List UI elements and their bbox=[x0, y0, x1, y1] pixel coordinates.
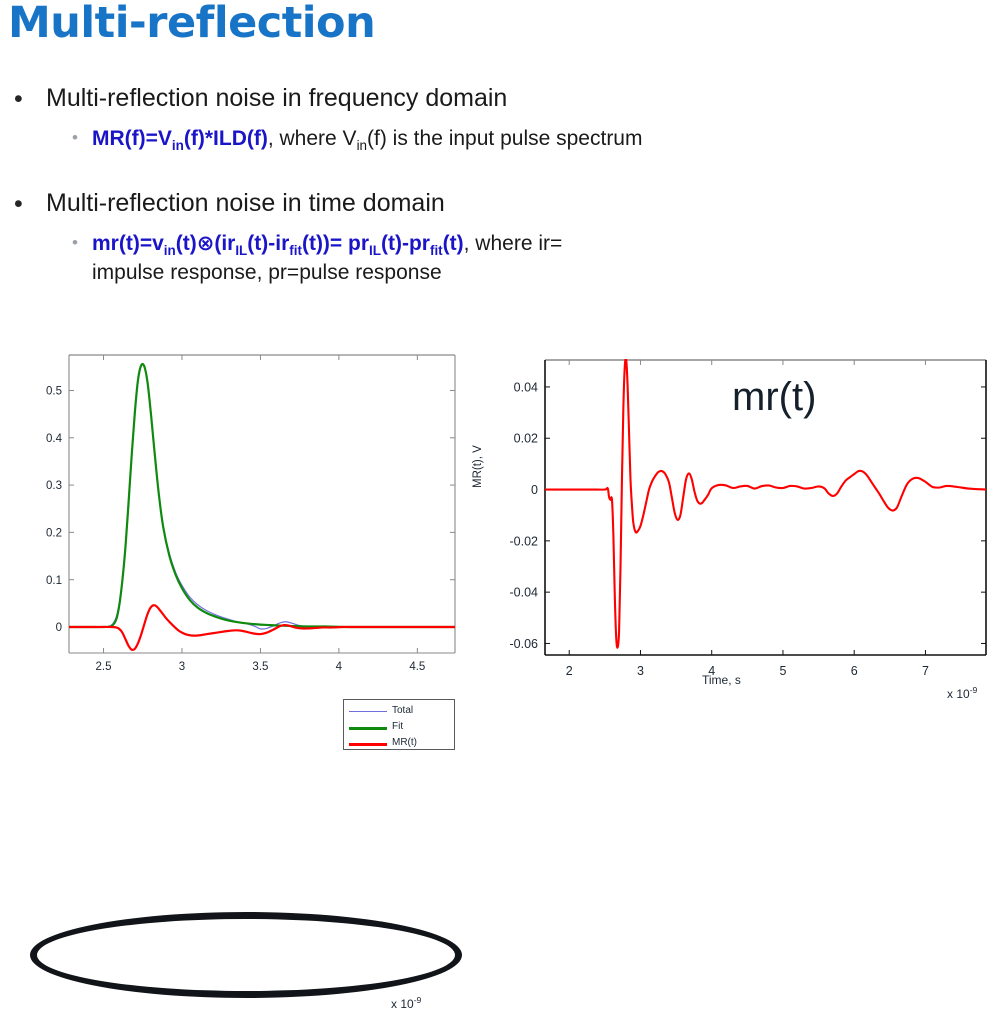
x-tick-label: 4.5 bbox=[409, 661, 425, 673]
eq-tail-sub: in bbox=[357, 138, 367, 153]
eq-s2: IL bbox=[235, 243, 247, 258]
eq-p4: (t)-ir bbox=[247, 232, 289, 255]
eq2-tail-b: impulse response, pr=pulse response bbox=[92, 261, 442, 284]
chart-legend: TotalFitMR(t) bbox=[343, 699, 455, 750]
bullet-marker: • bbox=[14, 190, 23, 219]
eq-sub-in: in bbox=[172, 138, 184, 153]
y-tick-label: -0.02 bbox=[510, 534, 539, 548]
y-tick-label: -0.04 bbox=[510, 586, 539, 600]
y-tick-label: 0.1 bbox=[46, 575, 62, 587]
legend-swatch-fit bbox=[349, 727, 387, 730]
eq-p7: (t) bbox=[443, 232, 464, 255]
y-tick-label: 0.02 bbox=[514, 432, 538, 446]
sub-bullet-item-1: • MR(f)=Vin(f)*ILD(f), where Vin(f) is t… bbox=[92, 126, 982, 155]
sub-bullet-marker: • bbox=[72, 233, 78, 254]
exponent-base: x 10 bbox=[391, 997, 414, 1011]
series-total bbox=[69, 364, 455, 629]
x-axis-exponent: x 10-9 bbox=[947, 685, 977, 701]
legend-item: Fit bbox=[344, 721, 454, 734]
y-tick-label: 0 bbox=[531, 483, 538, 497]
legend-item: Total bbox=[344, 705, 454, 718]
x-tick-label: 2.5 bbox=[96, 661, 112, 673]
y-tick-label: 0.04 bbox=[514, 380, 538, 394]
sub-bullet-marker: • bbox=[72, 128, 78, 149]
bullet-marker: • bbox=[14, 85, 23, 114]
sub-bullet-item-2: • mr(t)=vin(t)⊗(irIL(t)-irfit(t))= prIL(… bbox=[92, 231, 972, 285]
x-tick-label: 5 bbox=[779, 664, 786, 678]
bullet-text: Multi-reflection noise in time domain bbox=[46, 189, 445, 217]
x-tick-label: 4 bbox=[336, 661, 343, 673]
equation-frequency-domain: MR(f)=Vin(f)*ILD(f) bbox=[92, 127, 268, 150]
legend-label: Total bbox=[392, 705, 413, 716]
eq-p6: (t)-pr bbox=[381, 232, 430, 255]
bullet-item-2: • Multi-reflection noise in time domain bbox=[46, 189, 445, 218]
eq-tail-b: (f) is the input pulse spectrum bbox=[367, 127, 642, 150]
convolution-symbol: ⊗ bbox=[197, 231, 215, 255]
y-tick-label: 0.5 bbox=[46, 386, 62, 398]
left-plot-svg: 2.533.544.500.10.20.30.40.5 bbox=[0, 340, 480, 702]
eq-s3: fit bbox=[289, 243, 302, 258]
x-tick-label: 7 bbox=[922, 664, 929, 678]
eq-tail-a: , where V bbox=[268, 127, 357, 150]
y-tick-label: -0.06 bbox=[510, 637, 539, 651]
bullet-text: Multi-reflection noise in frequency doma… bbox=[46, 84, 507, 112]
y-axis-label: MR(t), V bbox=[472, 445, 484, 488]
y-tick-label: 0.3 bbox=[46, 480, 62, 492]
ellipse-highlight-annotation bbox=[30, 912, 462, 998]
legend-label: Fit bbox=[392, 721, 403, 732]
equation-time-domain: mr(t)=vin(t)⊗(irIL(t)-irfit(t))= prIL(t)… bbox=[92, 232, 464, 255]
eq-prefix: MR(f)=V bbox=[92, 127, 172, 150]
legend-swatch-total bbox=[349, 711, 387, 712]
x-tick-label: 2 bbox=[566, 664, 573, 678]
exponent-base: x 10 bbox=[947, 687, 970, 701]
eq-p3: (ir bbox=[214, 232, 235, 255]
y-tick-label: 0.4 bbox=[46, 433, 63, 445]
x-tick-label: 3 bbox=[637, 664, 644, 678]
eq-p5: (t))= pr bbox=[302, 232, 369, 255]
exponent-power: -9 bbox=[970, 685, 978, 695]
legend-label: MR(t) bbox=[392, 737, 417, 748]
bullet-item-1: • Multi-reflection noise in frequency do… bbox=[46, 84, 507, 113]
y-tick-label: 0 bbox=[56, 622, 62, 634]
chart-left-pulse-response: 2.533.544.500.10.20.30.40.5 TotalFitMR(t… bbox=[0, 340, 480, 702]
legend-item: MR(t) bbox=[344, 737, 454, 750]
y-tick-label: 0.2 bbox=[46, 528, 62, 540]
series-fit bbox=[69, 364, 455, 627]
eq-p1: mr(t)=v bbox=[92, 232, 164, 255]
eq-p2: (t) bbox=[176, 232, 197, 255]
eq-s5: fit bbox=[430, 243, 443, 258]
eq-s4: IL bbox=[369, 243, 381, 258]
eq-s1: in bbox=[164, 243, 176, 258]
x-tick-label: 3.5 bbox=[252, 661, 268, 673]
page-title: Multi-reflection bbox=[8, 0, 375, 48]
x-tick-label: 6 bbox=[851, 664, 858, 678]
exponent-power: -9 bbox=[414, 995, 422, 1005]
eq-mid: (f)*ILD(f) bbox=[184, 127, 268, 150]
eq2-tail-a: , where ir= bbox=[464, 232, 563, 255]
legend-swatch-mr-t- bbox=[349, 743, 387, 746]
series-mr-t- bbox=[69, 605, 455, 650]
slide-canvas: Multi-reflection • Multi-reflection nois… bbox=[0, 0, 1000, 702]
x-axis-exponent: x 10-9 bbox=[391, 995, 421, 1011]
plot-title-mr-t: mr(t) bbox=[732, 375, 816, 420]
x-axis-label: Time, s bbox=[702, 673, 741, 687]
x-tick-label: 3 bbox=[179, 661, 185, 673]
chart-right-mr-t: 2345670.040.020-0.02-0.04-0.06 mr(t) Tim… bbox=[480, 340, 1000, 702]
